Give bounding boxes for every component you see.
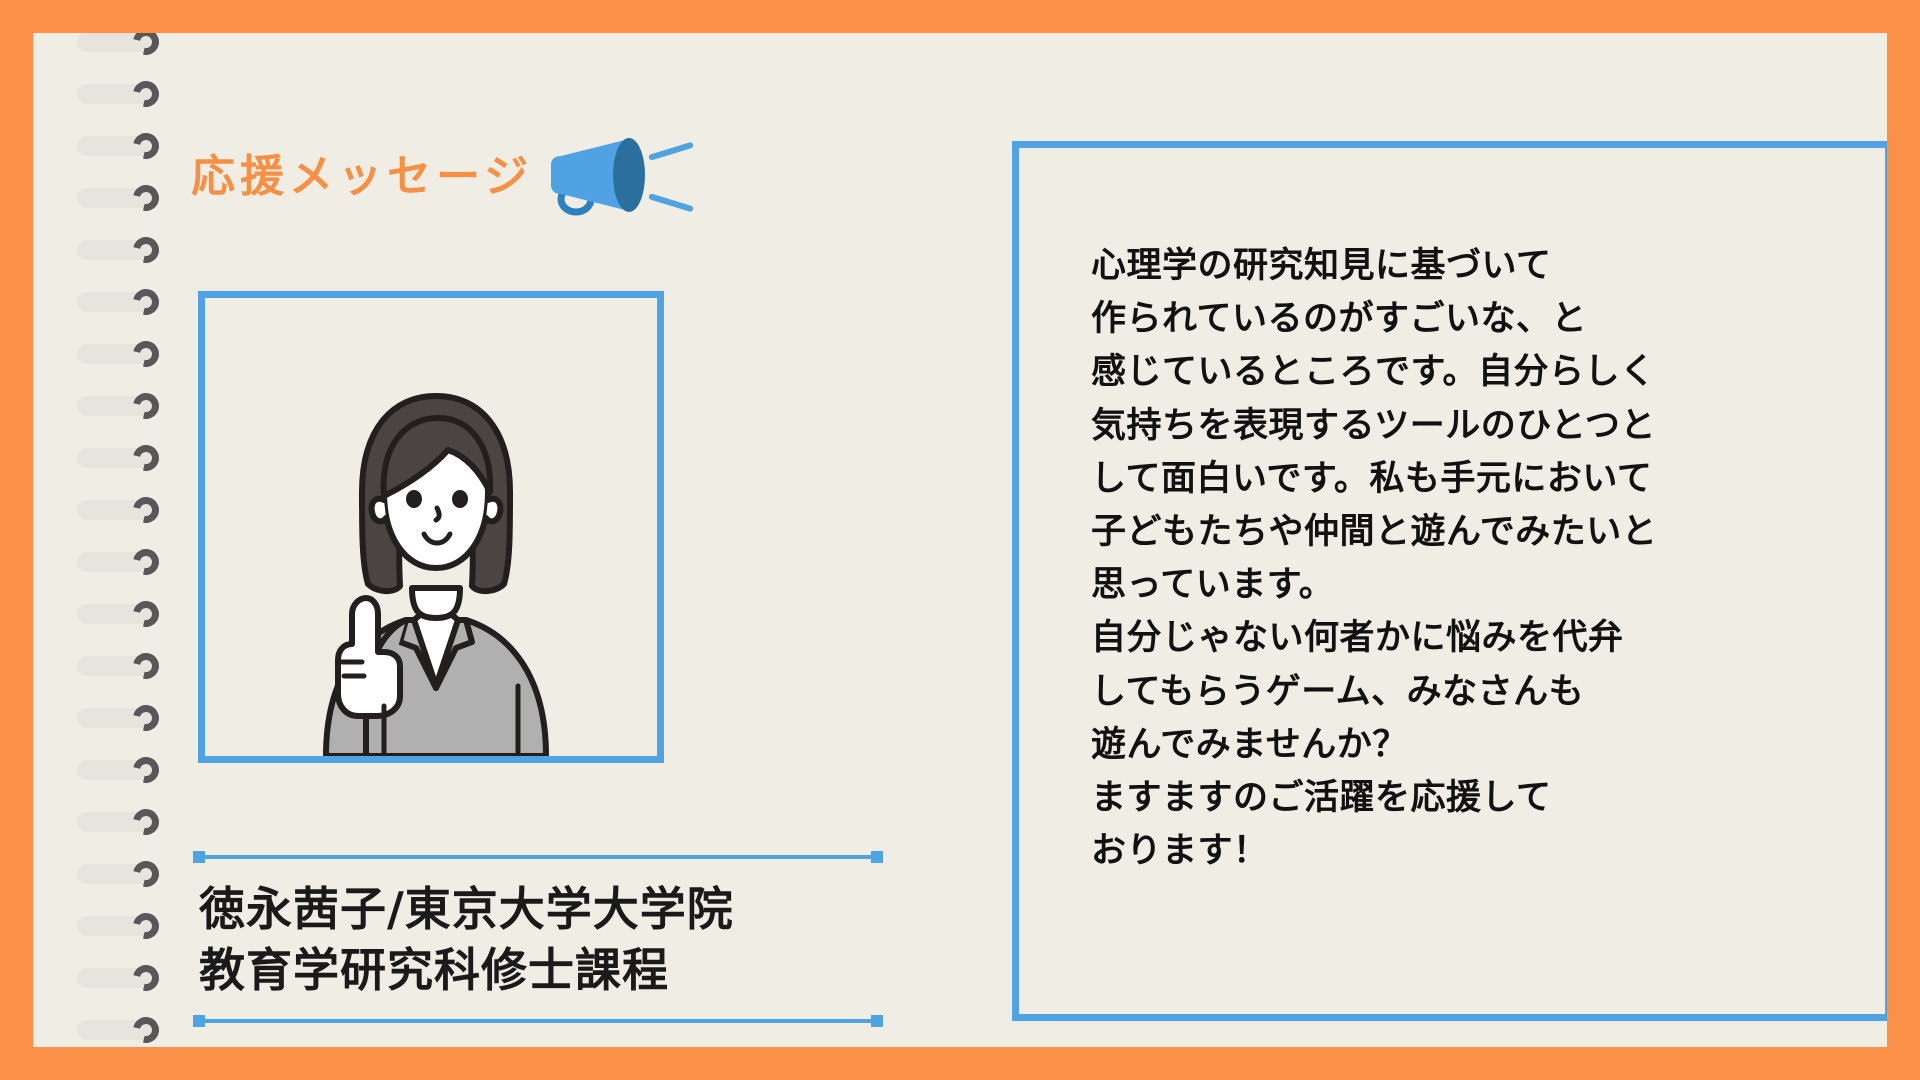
- message-box: 心理学の研究知見に基づいて 作られているのがすごいな、と 感じているところです。…: [1012, 141, 1887, 1021]
- spiral-ring-hook: [128, 440, 164, 476]
- spiral-ring-hook: [128, 908, 164, 944]
- spiral-ring-hook: [128, 960, 164, 996]
- spiral-ring: [77, 341, 169, 367]
- caption-rule-top: [193, 851, 883, 863]
- spiral-ring-bar: [77, 240, 155, 260]
- message-line: して面白いです。私も手元において: [1091, 453, 1867, 506]
- author-name-line-2: 教育学研究科修士課程: [199, 940, 883, 1001]
- spiral-ring: [77, 133, 169, 159]
- paper-sheet: 応援メッセージ: [33, 33, 1887, 1047]
- rule-cap-right: [871, 851, 883, 863]
- rule-line: [199, 855, 877, 859]
- spiral-ring-bar: [77, 33, 155, 52]
- spiral-ring-hook: [128, 33, 164, 60]
- spiral-ring-bar: [77, 916, 155, 936]
- rule-cap-right: [871, 1015, 883, 1027]
- spiral-ring-bar: [77, 708, 155, 728]
- spiral-ring-hook: [128, 128, 164, 164]
- spiral-ring-bar: [77, 136, 155, 156]
- author-name-line-1: 徳永茜子/東京大学大学院: [199, 879, 883, 940]
- author-name: 徳永茜子/東京大学大学院 教育学研究科修士課程: [193, 863, 883, 1015]
- page-heading: 応援メッセージ: [191, 129, 693, 225]
- spiral-ring-bar: [77, 500, 155, 520]
- spiral-ring: [77, 757, 169, 783]
- spiral-ring-hook: [128, 648, 164, 684]
- page-title: 応援メッセージ: [191, 155, 533, 199]
- spiral-ring: [77, 861, 169, 887]
- spiral-ring-bar: [77, 604, 155, 624]
- spiral-ring: [77, 965, 169, 991]
- message-text: 心理学の研究知見に基づいて 作られているのがすごいな、と 感じているところです。…: [1091, 240, 1867, 878]
- portrait-frame: [198, 291, 664, 763]
- spiral-ring-hook: [128, 700, 164, 736]
- spiral-ring-bar: [77, 812, 155, 832]
- spiral-ring-hook: [128, 336, 164, 372]
- spiral-ring: [77, 601, 169, 627]
- spiral-ring-hook: [128, 596, 164, 632]
- message-line: 心理学の研究知見に基づいて: [1091, 240, 1867, 293]
- spiral-binding: [33, 33, 168, 1047]
- message-line: おります！: [1091, 825, 1867, 878]
- spiral-ring: [77, 393, 169, 419]
- message-line: 自分じゃない何者かに悩みを代弁: [1091, 612, 1867, 665]
- spiral-ring-hook: [128, 180, 164, 216]
- spiral-ring-bar: [77, 864, 155, 884]
- spiral-ring-bar: [77, 396, 155, 416]
- message-line: 感じているところです。自分らしく: [1091, 346, 1867, 399]
- spiral-ring-bar: [77, 84, 155, 104]
- message-line: 作られているのがすごいな、と: [1091, 293, 1867, 346]
- message-line: 子どもたちや仲間と遊んでみたいと: [1091, 506, 1867, 559]
- message-line: 気持ちを表現するツールのひとつと: [1091, 400, 1867, 453]
- spiral-ring-hook: [128, 1012, 164, 1047]
- spiral-ring-bar: [77, 552, 155, 572]
- message-line: してもらうゲーム、みなさんも: [1091, 666, 1867, 719]
- rule-line: [199, 1019, 877, 1023]
- spiral-ring: [77, 913, 169, 939]
- spiral-ring-bar: [77, 292, 155, 312]
- spiral-ring-hook: [128, 752, 164, 788]
- slide-root: 応援メッセージ: [0, 0, 1920, 1080]
- spiral-ring-hook: [128, 284, 164, 320]
- spiral-ring-hook: [128, 804, 164, 840]
- spiral-ring: [77, 809, 169, 835]
- spiral-ring: [77, 1017, 169, 1043]
- spiral-ring: [77, 705, 169, 731]
- spiral-ring-hook: [128, 492, 164, 528]
- spiral-ring-hook: [128, 76, 164, 112]
- spiral-ring: [77, 81, 169, 107]
- spiral-ring: [77, 185, 169, 211]
- spiral-ring: [77, 653, 169, 679]
- message-line: 遊んでみませんか？: [1091, 719, 1867, 772]
- spiral-ring-bar: [77, 968, 155, 988]
- spiral-ring-bar: [77, 448, 155, 468]
- spiral-ring: [77, 445, 169, 471]
- spiral-ring: [77, 497, 169, 523]
- spiral-ring-hook: [128, 232, 164, 268]
- spiral-ring-hook: [128, 856, 164, 892]
- spiral-ring-bar: [77, 1020, 155, 1040]
- spiral-ring-hook: [128, 544, 164, 580]
- caption-block: 徳永茜子/東京大学大学院 教育学研究科修士課程: [193, 851, 883, 1027]
- spiral-ring-bar: [77, 344, 155, 364]
- spiral-ring: [77, 289, 169, 315]
- megaphone-icon: [545, 135, 693, 225]
- message-line: ますますのご活躍を応援して: [1091, 772, 1867, 825]
- spiral-ring: [77, 549, 169, 575]
- message-line: 思っています。: [1091, 559, 1867, 612]
- spiral-ring: [77, 33, 169, 55]
- spiral-ring-bar: [77, 760, 155, 780]
- spiral-ring-bar: [77, 656, 155, 676]
- portrait-illustration: [266, 356, 596, 756]
- spiral-ring-bar: [77, 188, 155, 208]
- spiral-ring: [77, 237, 169, 263]
- spiral-ring-hook: [128, 388, 164, 424]
- caption-rule-bottom: [193, 1015, 883, 1027]
